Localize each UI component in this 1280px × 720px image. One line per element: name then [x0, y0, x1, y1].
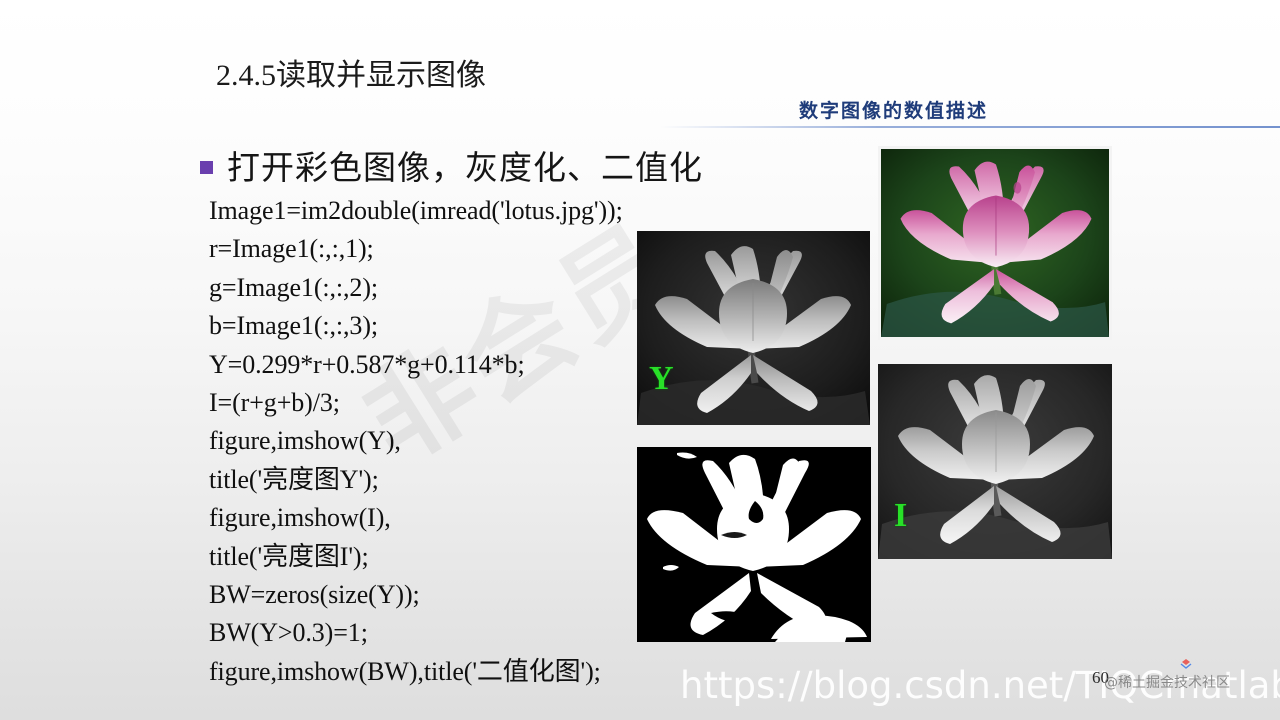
site-credit: @稀土掘金技术社区 — [1104, 672, 1230, 692]
juejin-logo-icon — [1178, 658, 1194, 671]
gray-i-lotus-illustration — [878, 364, 1112, 559]
page-number: 60 — [1092, 668, 1109, 688]
square-bullet-icon — [200, 161, 213, 174]
figure-color-lotus — [878, 146, 1112, 340]
code-line: Image1=im2double(imread('lotus.jpg')); — [209, 192, 729, 230]
bullet-row: 打开彩色图像，灰度化、二值化 — [200, 141, 703, 189]
figure-binary-lotus — [637, 447, 871, 642]
presentation-slide: 非会员 数字图像的数值描述 2.4.5读取并显示图像 打开彩色图像，灰度化、二值… — [0, 0, 1280, 720]
figure-label-i: I — [894, 499, 907, 533]
header-divider — [660, 126, 1280, 128]
page-title: 2.4.5读取并显示图像 — [216, 50, 486, 94]
section-header: 数字图像的数值描述 — [799, 96, 988, 123]
binary-lotus-illustration — [637, 447, 871, 642]
code-line: figure,imshow(BW),title('二值化图'); — [209, 653, 729, 691]
figure-gray-i-lotus — [878, 364, 1112, 559]
figure-label-y: Y — [649, 362, 674, 396]
color-lotus-illustration — [881, 149, 1109, 337]
bullet-label: 打开彩色图像，灰度化、二值化 — [227, 141, 703, 189]
